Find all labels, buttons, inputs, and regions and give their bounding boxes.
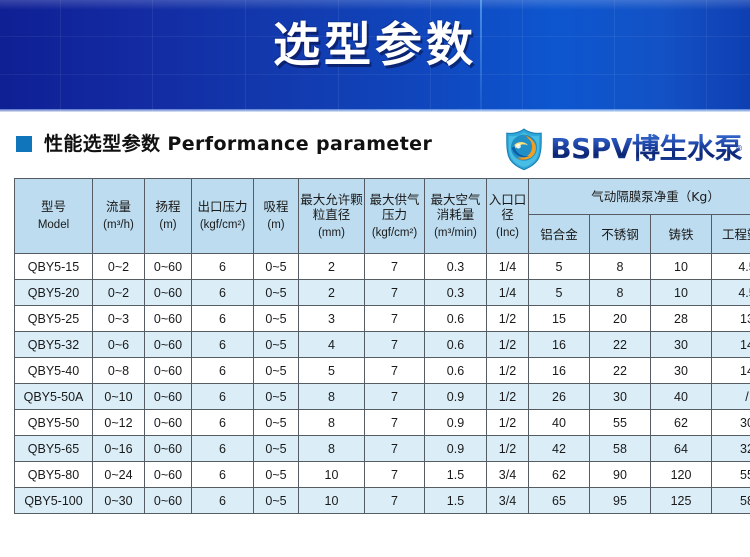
cell-suction: 0~5	[254, 306, 299, 332]
cell-stainless: 95	[590, 488, 651, 514]
table-row: QBY5-650~160~6060~5870.91/242586432	[15, 436, 750, 462]
title-banner: 选型参数	[0, 0, 750, 112]
cell-inlet-diameter: 1/2	[487, 436, 529, 462]
cell-stainless: 58	[590, 436, 651, 462]
cell-cast-iron: 30	[651, 332, 712, 358]
cell-stainless: 22	[590, 358, 651, 384]
cell-max-air-consumption: 1.5	[425, 488, 487, 514]
cell-plastic: 30	[712, 410, 750, 436]
cell-model: QBY5-100	[15, 488, 93, 514]
cell-head: 0~60	[145, 462, 192, 488]
col-header-max-particle: 最大允许颗粒直径 (mm)	[299, 179, 365, 254]
cell-stainless: 90	[590, 462, 651, 488]
cell-aluminium: 5	[529, 254, 590, 280]
section-header-row: 性能选型参数 Performance parameter BSPV博生水泵 ®	[0, 112, 750, 174]
cell-max-air-pressure: 7	[365, 384, 425, 410]
table-body: QBY5-150~20~6060~5270.31/458104.5QBY5-20…	[15, 254, 750, 514]
page-title: 选型参数	[0, 16, 750, 76]
cell-max-air-consumption: 0.6	[425, 358, 487, 384]
cell-max-air-consumption: 1.5	[425, 462, 487, 488]
cell-plastic: 14	[712, 358, 750, 384]
cell-max-air-pressure: 7	[365, 332, 425, 358]
col-header-suction: 吸程 (m)	[254, 179, 299, 254]
table-head: 型号 Model 流量 (m³/h) 扬程 (m) 出口压力 (kgf/cm²)	[15, 179, 750, 254]
cell-head: 0~60	[145, 306, 192, 332]
cell-outlet-pressure: 6	[192, 254, 254, 280]
col-header-max-air-pressure: 最大供气压力 (kgf/cm²)	[365, 179, 425, 254]
performance-spec-table: 型号 Model 流量 (m³/h) 扬程 (m) 出口压力 (kgf/cm²)	[14, 178, 750, 514]
table-row: QBY5-400~80~6060~5570.61/216223014	[15, 358, 750, 384]
cell-cast-iron: 40	[651, 384, 712, 410]
col-header-flow: 流量 (m³/h)	[93, 179, 145, 254]
cell-inlet-diameter: 1/4	[487, 280, 529, 306]
cell-max-air-pressure: 7	[365, 280, 425, 306]
table-row: QBY5-320~60~6060~5470.61/216223014	[15, 332, 750, 358]
col-header-weight-group: 气动隔膜泵净重（Kg）	[529, 179, 750, 215]
cell-max-particle: 3	[299, 306, 365, 332]
cell-stainless: 8	[590, 254, 651, 280]
cell-max-particle: 10	[299, 462, 365, 488]
cell-max-air-consumption: 0.9	[425, 436, 487, 462]
cell-cast-iron: 10	[651, 280, 712, 306]
cell-cast-iron: 125	[651, 488, 712, 514]
registered-trademark-icon: ®	[736, 144, 742, 153]
cell-model: QBY5-65	[15, 436, 93, 462]
slide-page: 选型参数 性能选型参数 Performance parameter BSPV博生…	[0, 0, 750, 557]
cell-model: QBY5-50A	[15, 384, 93, 410]
cell-max-air-pressure: 7	[365, 488, 425, 514]
cell-max-air-consumption: 0.6	[425, 306, 487, 332]
cell-stainless: 22	[590, 332, 651, 358]
cell-max-particle: 2	[299, 280, 365, 306]
cell-max-air-pressure: 7	[365, 410, 425, 436]
cell-flow: 0~10	[93, 384, 145, 410]
cell-model: QBY5-80	[15, 462, 93, 488]
cell-outlet-pressure: 6	[192, 488, 254, 514]
cell-max-particle: 10	[299, 488, 365, 514]
cell-suction: 0~5	[254, 332, 299, 358]
cell-model: QBY5-20	[15, 280, 93, 306]
cell-suction: 0~5	[254, 410, 299, 436]
cell-cast-iron: 120	[651, 462, 712, 488]
cell-max-air-consumption: 0.9	[425, 384, 487, 410]
cell-max-air-consumption: 0.9	[425, 410, 487, 436]
cell-max-particle: 8	[299, 436, 365, 462]
cell-model: QBY5-32	[15, 332, 93, 358]
cell-suction: 0~5	[254, 384, 299, 410]
cell-head: 0~60	[145, 280, 192, 306]
cell-flow: 0~12	[93, 410, 145, 436]
cell-model: QBY5-15	[15, 254, 93, 280]
col-header-weight-aluminium: 铝合金	[529, 215, 590, 254]
cell-max-particle: 8	[299, 384, 365, 410]
cell-inlet-diameter: 3/4	[487, 488, 529, 514]
cell-suction: 0~5	[254, 436, 299, 462]
table-row: QBY5-500~120~6060~5870.91/240556230	[15, 410, 750, 436]
cell-inlet-diameter: 1/2	[487, 358, 529, 384]
col-header-max-air-consumption: 最大空气消耗量 (m³/min)	[425, 179, 487, 254]
cell-max-air-consumption: 0.6	[425, 332, 487, 358]
cell-plastic: 14	[712, 332, 750, 358]
cell-max-air-consumption: 0.3	[425, 280, 487, 306]
cell-aluminium: 62	[529, 462, 590, 488]
cell-max-air-pressure: 7	[365, 254, 425, 280]
cell-max-air-consumption: 0.3	[425, 254, 487, 280]
brand-name: BSPV博生水泵	[550, 132, 742, 165]
cell-outlet-pressure: 6	[192, 358, 254, 384]
cell-max-air-pressure: 7	[365, 462, 425, 488]
cell-head: 0~60	[145, 358, 192, 384]
col-header-weight-stainless: 不锈钢	[590, 215, 651, 254]
col-header-weight-cast-iron: 铸铁	[651, 215, 712, 254]
cell-cast-iron: 62	[651, 410, 712, 436]
cell-aluminium: 5	[529, 280, 590, 306]
table-row: QBY5-50A0~100~6060~5870.91/2263040/	[15, 384, 750, 410]
cell-outlet-pressure: 6	[192, 332, 254, 358]
cell-cast-iron: 64	[651, 436, 712, 462]
cell-model: QBY5-25	[15, 306, 93, 332]
cell-max-particle: 8	[299, 410, 365, 436]
cell-plastic: 13	[712, 306, 750, 332]
cell-inlet-diameter: 1/2	[487, 384, 529, 410]
brand-logo: BSPV博生水泵 ®	[502, 126, 742, 172]
cell-suction: 0~5	[254, 280, 299, 306]
cell-cast-iron: 30	[651, 358, 712, 384]
cell-cast-iron: 28	[651, 306, 712, 332]
cell-outlet-pressure: 6	[192, 306, 254, 332]
section-title: 性能选型参数 Performance parameter	[44, 129, 432, 156]
cell-inlet-diameter: 1/2	[487, 306, 529, 332]
cell-flow: 0~8	[93, 358, 145, 384]
square-bullet-icon	[16, 136, 32, 152]
cell-outlet-pressure: 6	[192, 384, 254, 410]
table-row: QBY5-250~30~6060~5370.61/215202813	[15, 306, 750, 332]
cell-outlet-pressure: 6	[192, 436, 254, 462]
cell-suction: 0~5	[254, 254, 299, 280]
col-header-head: 扬程 (m)	[145, 179, 192, 254]
cell-flow: 0~16	[93, 436, 145, 462]
cell-plastic: /	[712, 384, 750, 410]
col-header-inlet-diameter: 入口口径 (Inc)	[487, 179, 529, 254]
cell-outlet-pressure: 6	[192, 462, 254, 488]
cell-plastic: 4.5	[712, 254, 750, 280]
cell-flow: 0~3	[93, 306, 145, 332]
cell-flow: 0~6	[93, 332, 145, 358]
cell-plastic: 58	[712, 488, 750, 514]
table-row: QBY5-200~20~6060~5270.31/458104.5	[15, 280, 750, 306]
cell-model: QBY5-50	[15, 410, 93, 436]
cell-inlet-diameter: 3/4	[487, 462, 529, 488]
bspv-shield-emblem-icon	[502, 127, 546, 171]
cell-inlet-diameter: 1/2	[487, 332, 529, 358]
cell-stainless: 8	[590, 280, 651, 306]
cell-aluminium: 15	[529, 306, 590, 332]
col-header-weight-plastic: 工程塑料	[712, 215, 750, 254]
cell-head: 0~60	[145, 384, 192, 410]
cell-head: 0~60	[145, 488, 192, 514]
cell-stainless: 55	[590, 410, 651, 436]
cell-inlet-diameter: 1/2	[487, 410, 529, 436]
cell-head: 0~60	[145, 254, 192, 280]
cell-plastic: 32	[712, 436, 750, 462]
cell-model: QBY5-40	[15, 358, 93, 384]
cell-suction: 0~5	[254, 358, 299, 384]
cell-aluminium: 42	[529, 436, 590, 462]
cell-plastic: 55	[712, 462, 750, 488]
cell-aluminium: 40	[529, 410, 590, 436]
cell-max-air-pressure: 7	[365, 358, 425, 384]
cell-flow: 0~30	[93, 488, 145, 514]
cell-head: 0~60	[145, 410, 192, 436]
banner-top-sheen	[0, 0, 750, 10]
cell-cast-iron: 10	[651, 254, 712, 280]
cell-head: 0~60	[145, 436, 192, 462]
cell-inlet-diameter: 1/4	[487, 254, 529, 280]
cell-plastic: 4.5	[712, 280, 750, 306]
table-row: QBY5-150~20~6060~5270.31/458104.5	[15, 254, 750, 280]
col-header-model: 型号 Model	[15, 179, 93, 254]
cell-aluminium: 65	[529, 488, 590, 514]
header-row-1: 型号 Model 流量 (m³/h) 扬程 (m) 出口压力 (kgf/cm²)	[15, 179, 750, 215]
cell-flow: 0~24	[93, 462, 145, 488]
cell-suction: 0~5	[254, 462, 299, 488]
cell-stainless: 30	[590, 384, 651, 410]
cell-max-air-pressure: 7	[365, 436, 425, 462]
cell-flow: 0~2	[93, 280, 145, 306]
cell-max-particle: 4	[299, 332, 365, 358]
cell-aluminium: 26	[529, 384, 590, 410]
col-header-outlet-pressure: 出口压力 (kgf/cm²)	[192, 179, 254, 254]
spec-table-wrapper: 型号 Model 流量 (m³/h) 扬程 (m) 出口压力 (kgf/cm²)	[14, 178, 724, 514]
table-row: QBY5-800~240~6060~51071.53/4629012055	[15, 462, 750, 488]
cell-max-particle: 2	[299, 254, 365, 280]
table-row: QBY5-1000~300~6060~51071.53/4659512558	[15, 488, 750, 514]
cell-max-air-pressure: 7	[365, 306, 425, 332]
cell-outlet-pressure: 6	[192, 410, 254, 436]
cell-stainless: 20	[590, 306, 651, 332]
cell-flow: 0~2	[93, 254, 145, 280]
cell-max-particle: 5	[299, 358, 365, 384]
cell-head: 0~60	[145, 332, 192, 358]
cell-aluminium: 16	[529, 358, 590, 384]
cell-outlet-pressure: 6	[192, 280, 254, 306]
cell-aluminium: 16	[529, 332, 590, 358]
cell-suction: 0~5	[254, 488, 299, 514]
